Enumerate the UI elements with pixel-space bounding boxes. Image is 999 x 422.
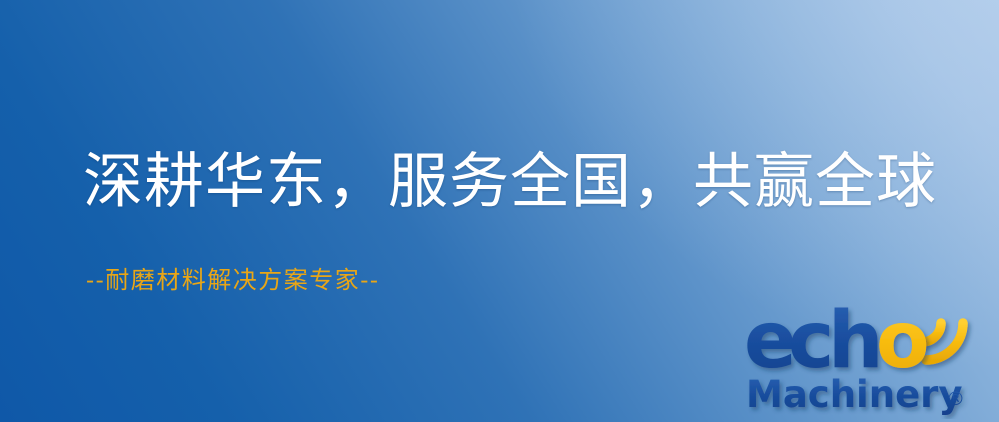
promo-banner: 深耕华东，服务全国，共赢全球 --耐磨材料解决方案专家-- [0, 0, 999, 422]
registered-mark-icon: ® [946, 388, 965, 410]
banner-headline: 深耕华东，服务全国，共赢全球 [83, 147, 937, 218]
echo-machinery-logo[interactable]: e c h o Machinery ® [744, 297, 994, 419]
logo-tagline: Machinery [746, 373, 963, 416]
banner-subtitle: --耐磨材料解决方案专家-- [86, 264, 379, 298]
